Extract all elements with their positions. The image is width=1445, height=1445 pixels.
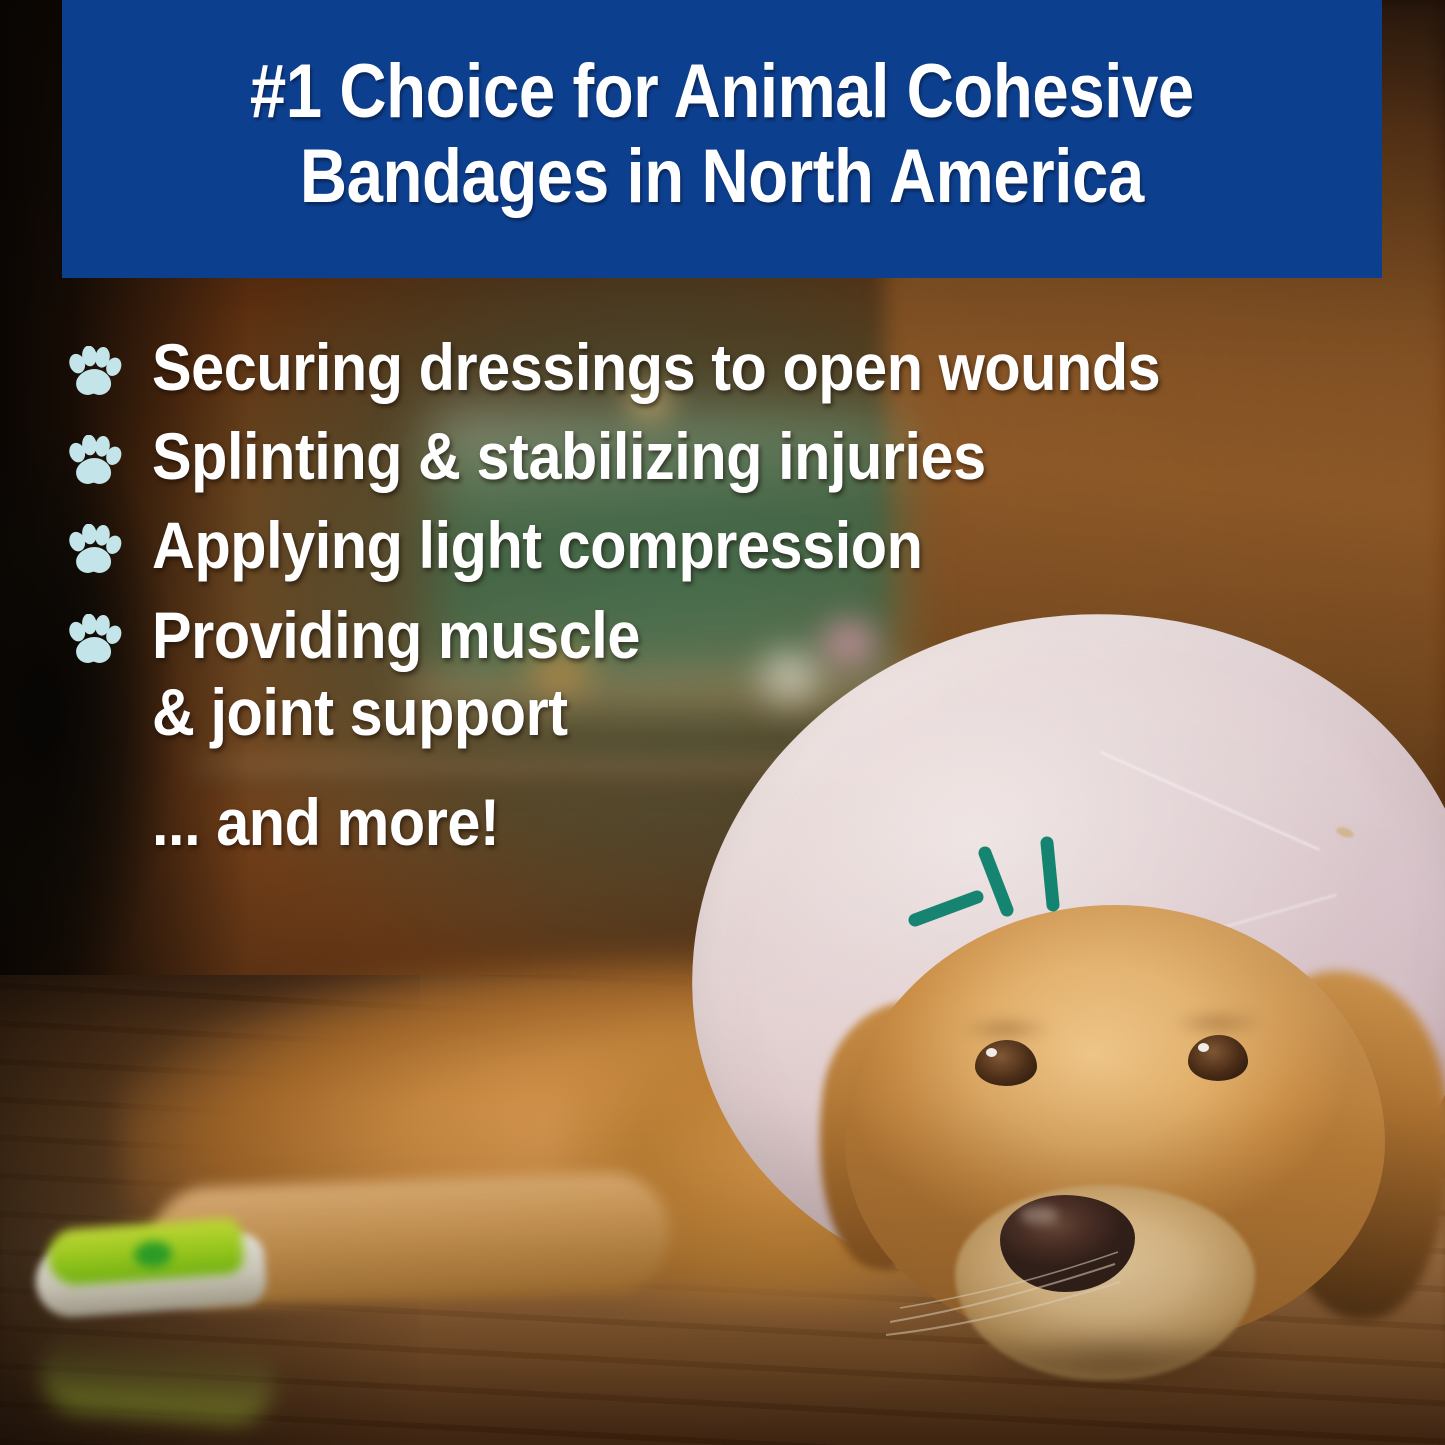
dog-brow-left bbox=[960, 1016, 1052, 1042]
list-item: Securing dressings to open wounds bbox=[64, 330, 1424, 405]
list-item-label: Splinting & stabilizing injuries bbox=[152, 419, 1297, 494]
dog-whiskers bbox=[880, 1230, 1160, 1350]
bandaged-paw bbox=[32, 1206, 289, 1328]
benefits-list: Securing dressings to open wounds Splint… bbox=[64, 330, 1424, 859]
paw-print-icon bbox=[64, 346, 122, 402]
dog-eye-glint bbox=[1198, 1043, 1209, 1052]
dog-brow-right bbox=[1172, 1010, 1264, 1036]
promo-image: #1 Choice for Animal Cohesive Bandages i… bbox=[0, 0, 1445, 1445]
list-item-label: Providing muscle bbox=[152, 598, 1297, 673]
list-item: Applying light compression bbox=[64, 508, 1424, 583]
paw-print-icon bbox=[64, 614, 122, 670]
paw-print-icon bbox=[64, 524, 122, 580]
dog-eye-left bbox=[975, 1040, 1037, 1086]
and-more-label: ... and more! bbox=[152, 786, 1297, 859]
dog-eye-glint bbox=[986, 1048, 997, 1057]
page-title: #1 Choice for Animal Cohesive Bandages i… bbox=[250, 49, 1194, 219]
list-item-label-continued: & joint support bbox=[152, 675, 1297, 750]
dog-eye-right bbox=[1188, 1035, 1248, 1081]
bandaged-paw-reflection bbox=[37, 1330, 277, 1426]
paw-print-icon bbox=[64, 435, 122, 491]
list-item: Providing muscle & joint support bbox=[64, 598, 1424, 750]
headline-banner: #1 Choice for Animal Cohesive Bandages i… bbox=[62, 0, 1382, 278]
list-item-label: Securing dressings to open wounds bbox=[152, 330, 1297, 405]
dog-nose-highlight bbox=[1020, 1206, 1058, 1224]
list-item: Splinting & stabilizing injuries bbox=[64, 419, 1424, 494]
list-item-label: Applying light compression bbox=[152, 508, 1297, 583]
